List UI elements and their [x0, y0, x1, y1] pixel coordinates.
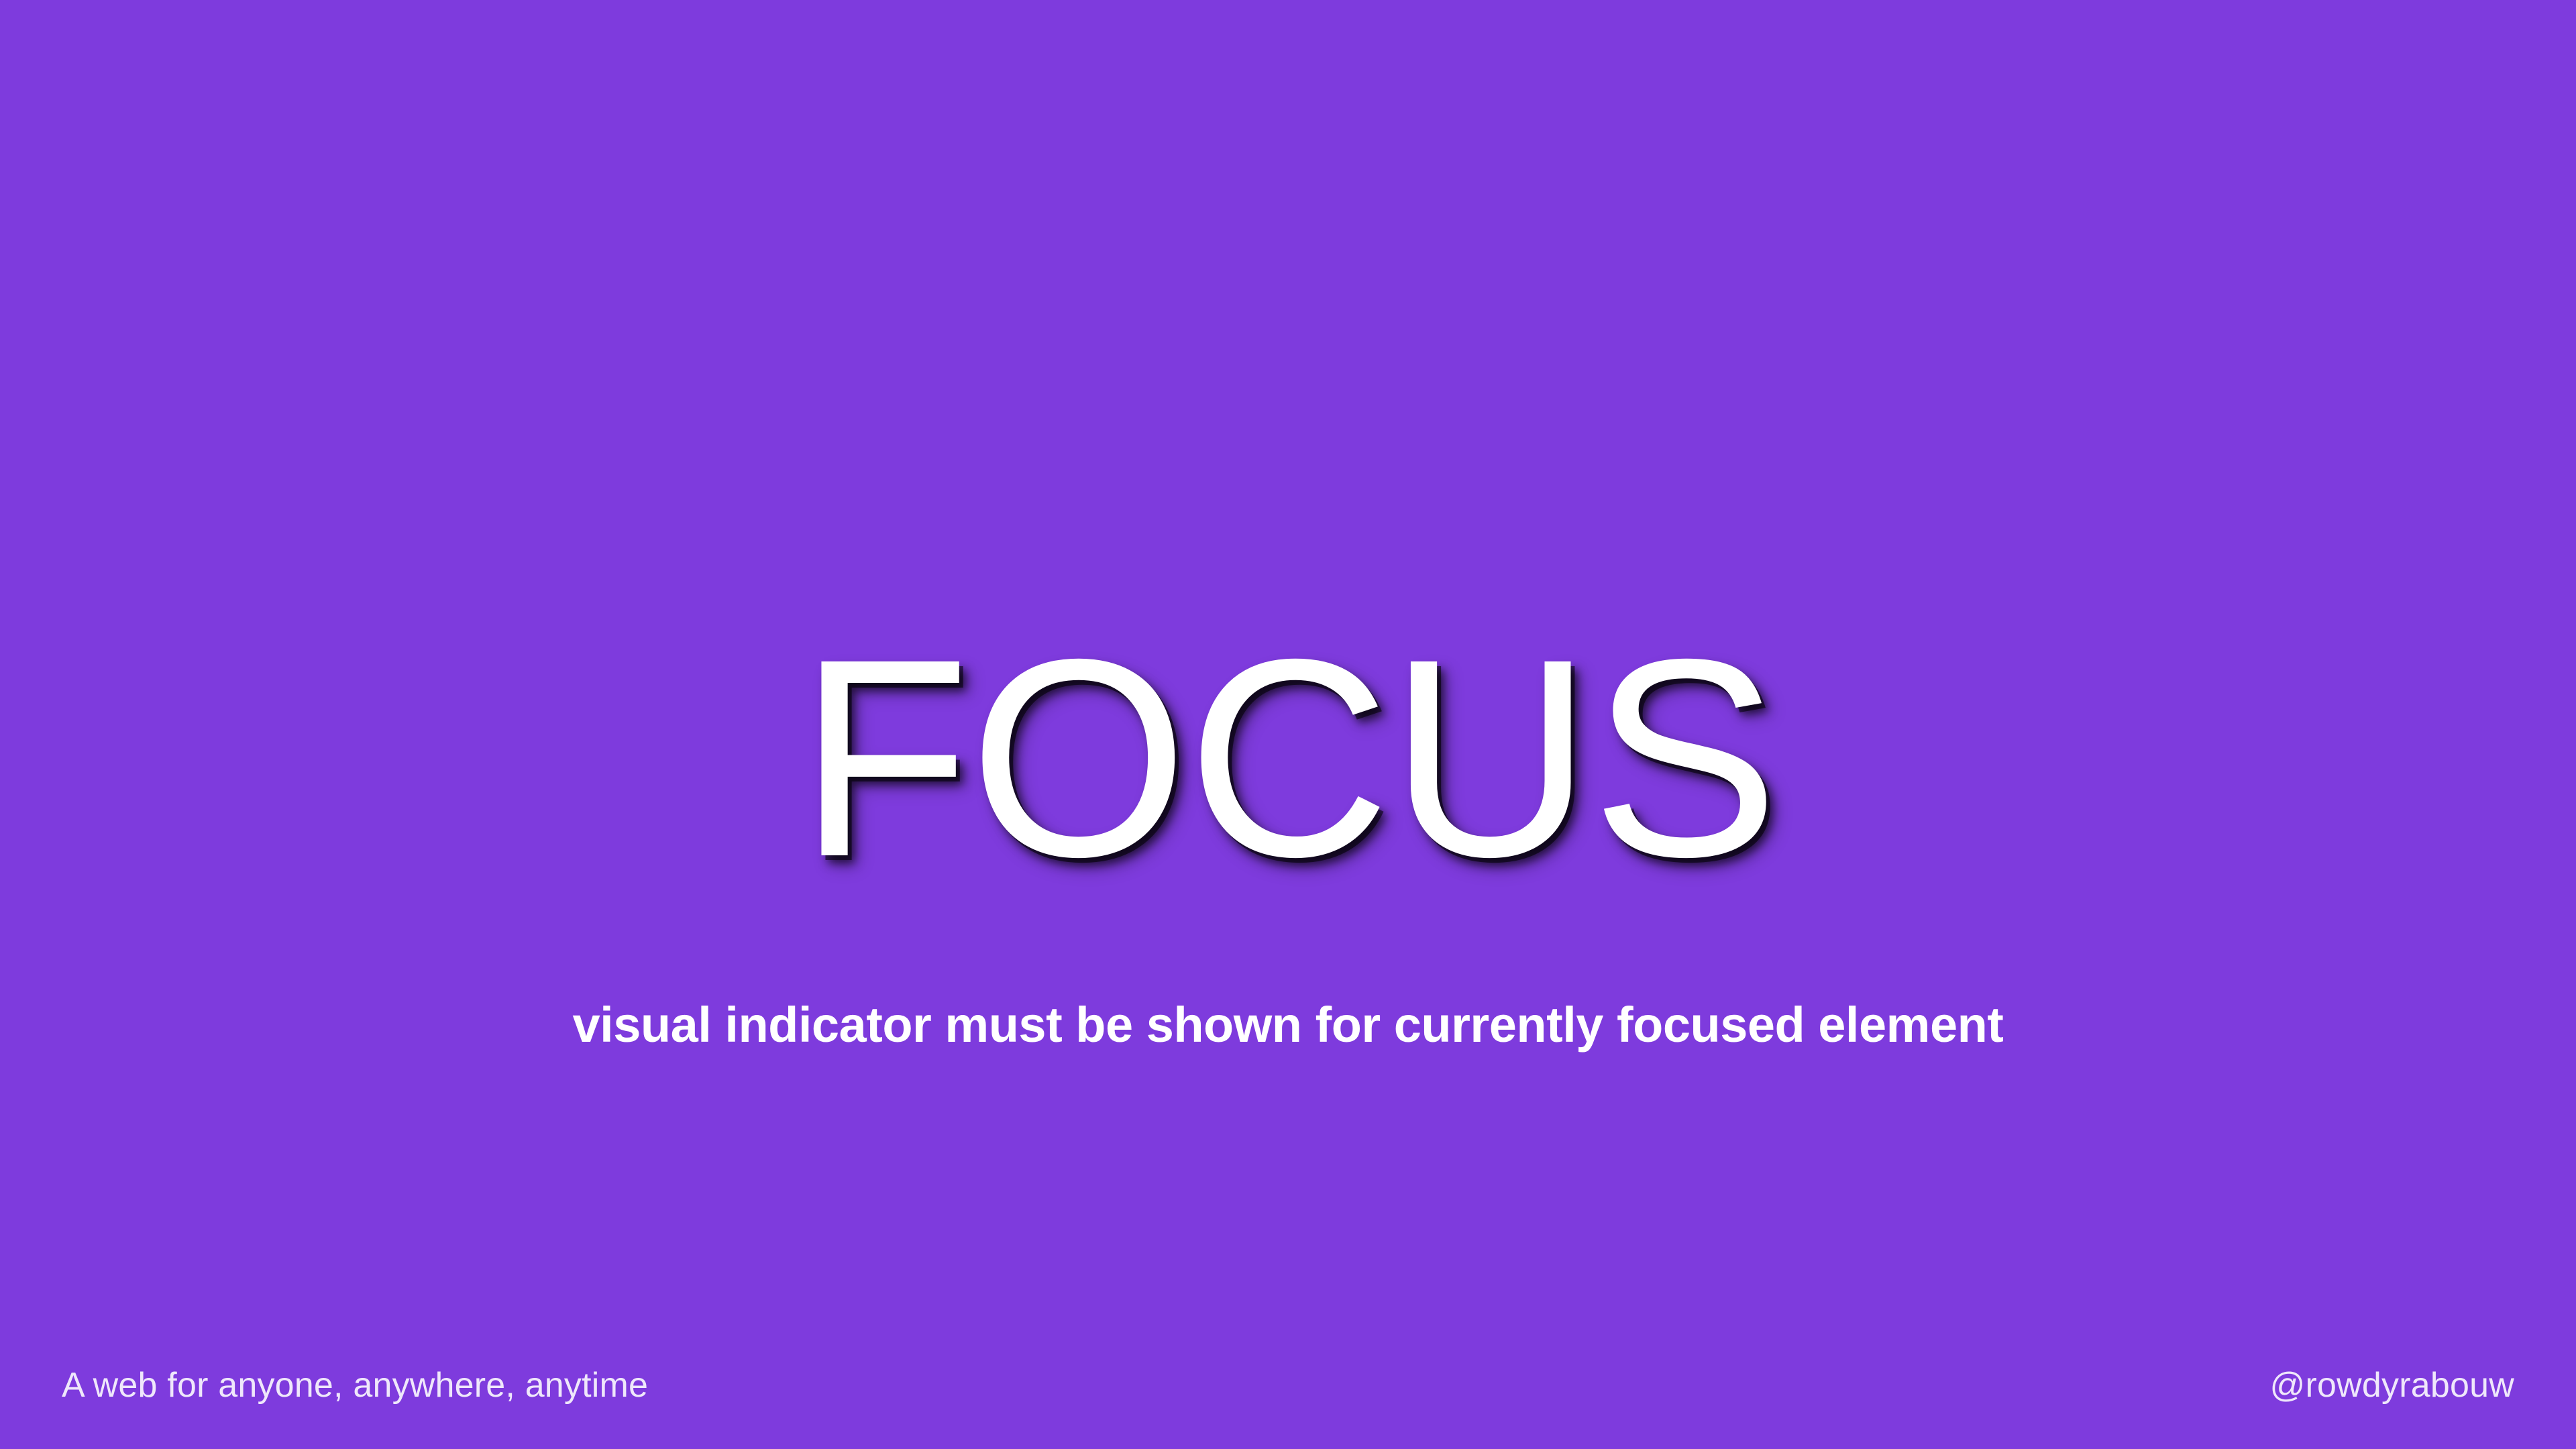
- slide-footer: A web for anyone, anywhere, anytime @row…: [0, 1322, 2576, 1449]
- footer-handle: @rowdyrabouw: [2270, 1365, 2514, 1405]
- footer-tagline: A web for anyone, anywhere, anytime: [62, 1365, 648, 1405]
- presentation-slide: FOCUS visual indicator must be shown for…: [0, 0, 2576, 1449]
- slide-subtitle: visual indicator must be shown for curre…: [0, 994, 2576, 1056]
- page-title: FOCUS: [0, 618, 2576, 900]
- slide-content: FOCUS visual indicator must be shown for…: [0, 0, 2576, 1449]
